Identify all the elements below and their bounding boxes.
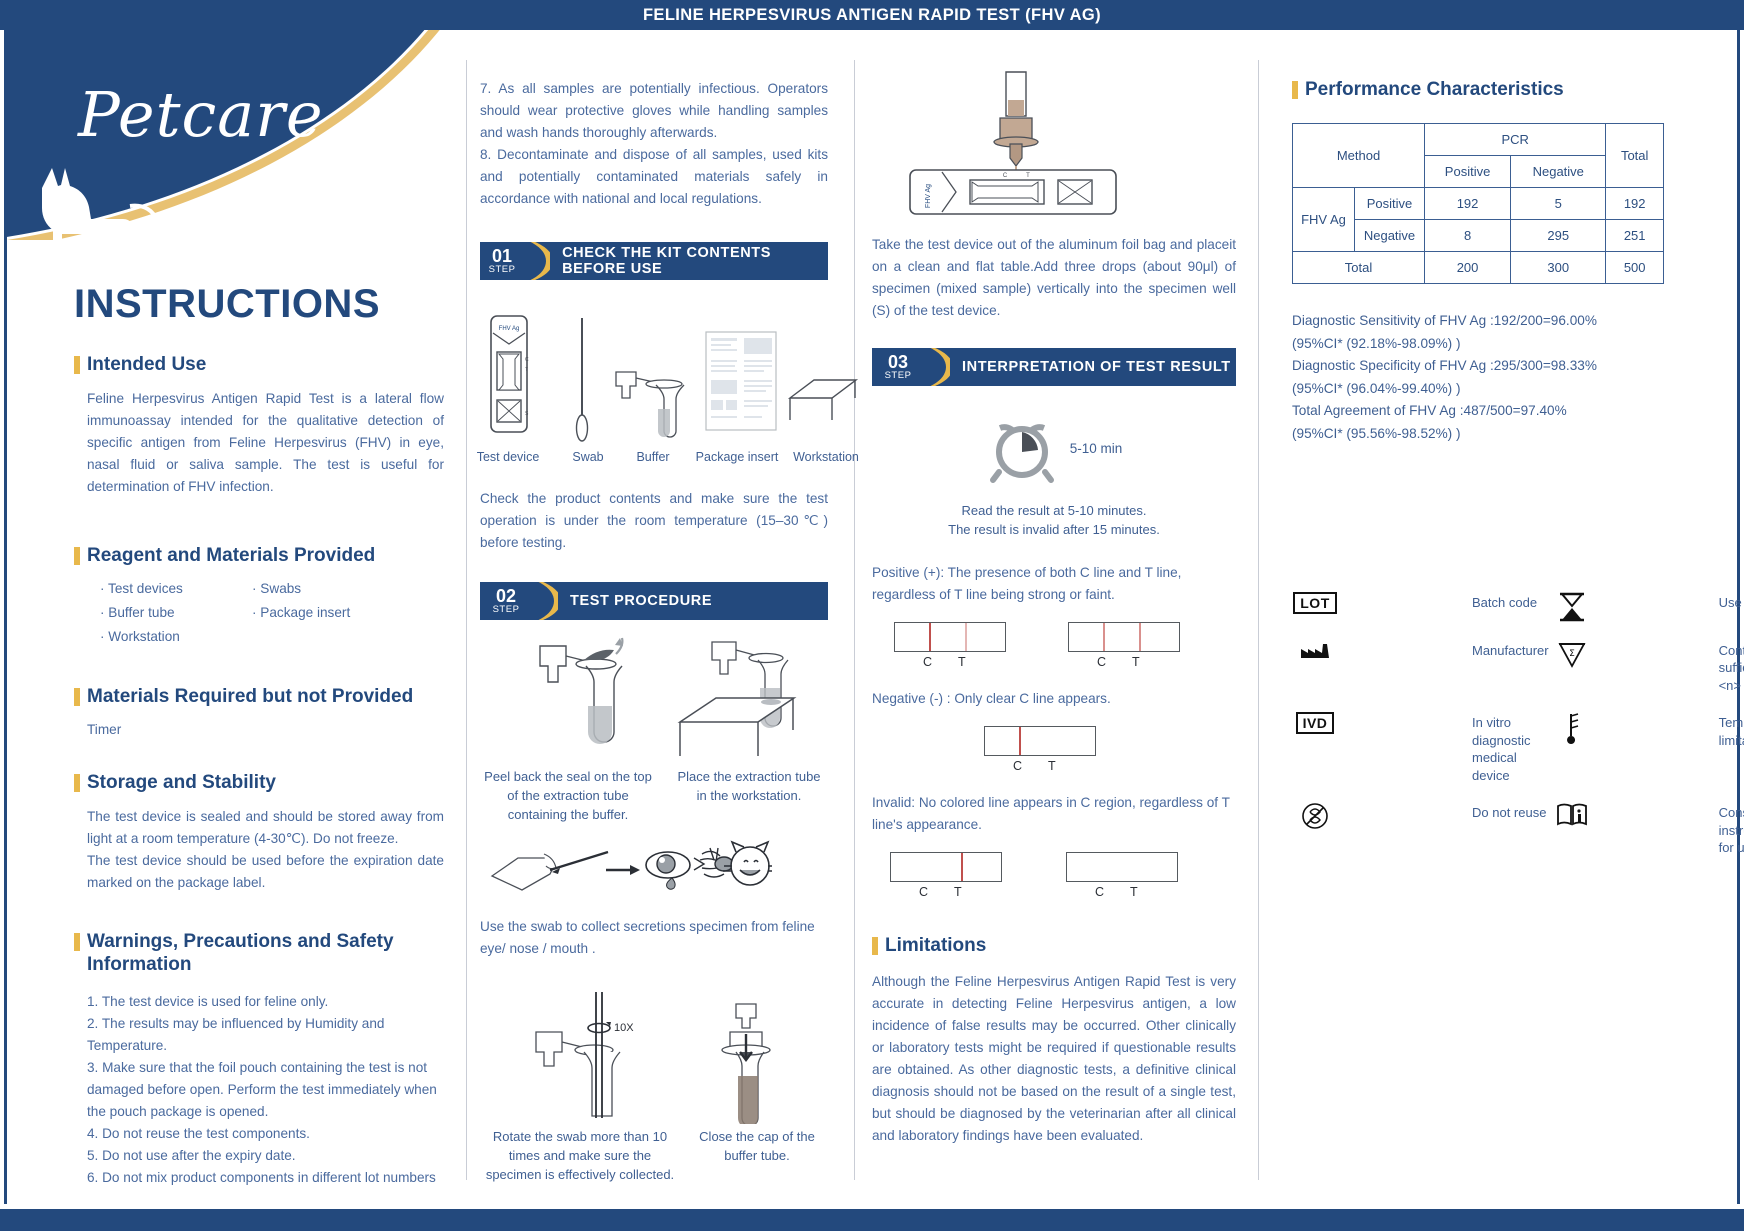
cell-pos-pcrneg: 5 [1511, 188, 1606, 220]
document-title: FELINE HERPESVIRUS ANTIGEN RAPID TEST (F… [0, 0, 1744, 30]
list-item: · Workstation [100, 625, 252, 649]
step-number-badge: 01 STEP [480, 242, 524, 280]
step-number: 01 [492, 247, 512, 265]
section-heading-warnings: Warnings, Precautions and Safety Informa… [74, 930, 404, 976]
table-row: FHV Ag Positive 192 5 192 [1293, 188, 1664, 220]
kit-label-test-device: Test device [464, 450, 552, 464]
t-label: T [954, 885, 962, 899]
cassette-window [1068, 622, 1180, 652]
step-word: STEP [885, 371, 912, 381]
alarm-clock-icon [986, 412, 1058, 484]
column-divider-2 [854, 60, 855, 1180]
test-device-icon: FHV Ag C T S [482, 314, 536, 434]
symbol-ivd: IVD [1292, 712, 1472, 734]
brand-logo-text: Petcare [78, 78, 324, 151]
cell-total-pcrneg: 300 [1511, 252, 1606, 284]
negative-result: CT [984, 726, 1096, 773]
symbol-legend: LOT Batch code Use by Manufacturer Σ C [1292, 592, 1682, 857]
cell-neg-total: 251 [1606, 220, 1664, 252]
manufacturer-factory-icon [1292, 640, 1338, 660]
column-divider-1 [466, 60, 467, 1180]
step-number-badge: 02 STEP [480, 582, 532, 620]
contains-sufficient-for-n-tests-icon: Σ [1549, 640, 1595, 670]
column-two: 7. As all samples are potentially infect… [480, 78, 828, 1188]
do-not-reuse-icon [1292, 802, 1338, 830]
section-heading-limitations: Limitations [872, 934, 1236, 957]
symbol-contains-sufficient: Σ [1549, 640, 1719, 670]
c-label: C [923, 655, 932, 669]
row-label-total: Total [1293, 252, 1425, 284]
list-item: 3. Make sure that the foil pouch contain… [87, 1057, 444, 1123]
limitations-body: Although the Feline Herpesvirus Antigen … [872, 971, 1236, 1147]
t-label: T [958, 655, 966, 669]
section-heading-intended-use: Intended Use [74, 353, 444, 376]
procedure-captions-row-1: Peel back the seal on the top of the ext… [480, 768, 828, 826]
kit-note: Check the product contents and make sure… [480, 488, 828, 554]
c-line [1103, 623, 1105, 651]
header-pcr: PCR [1425, 124, 1606, 156]
list-item: 6. Do not mix product components in diff… [87, 1167, 444, 1189]
t-label: T [1048, 759, 1056, 773]
stat-line: Total Agreement of FHV Ag :487/500=97.40… [1292, 400, 1682, 423]
procedure-illustration-row-1 [480, 632, 828, 766]
storage-body-2: The test device should be used before th… [74, 850, 444, 894]
svg-text:10X: 10X [614, 1022, 634, 1034]
t-label: T [1132, 655, 1140, 669]
step-label: INTERPRETATION OF TEST RESULT [950, 359, 1231, 375]
procedure-caption-4: Close the cap of the buffer tube. [690, 1128, 824, 1166]
kit-label-buffer: Buffer [620, 450, 686, 464]
symbol-label-lot: Batch code [1472, 592, 1549, 612]
svg-text:FHV Ag: FHV Ag [925, 184, 932, 208]
peel-seal-icon [508, 632, 638, 762]
warnings-cont-7: 7. As all samples are potentially infect… [480, 78, 828, 144]
kit-label-workstation: Workstation [784, 450, 868, 464]
t-line [965, 623, 967, 651]
column-four: Performance Characteristics Method PCR T… [1292, 78, 1682, 857]
add-specimen-illustration: FHV Ag C T [872, 70, 1236, 216]
invalid-description: Invalid: No colored line appears in C re… [872, 792, 1236, 836]
timer-row: 5-10 min [872, 412, 1236, 484]
invalid-result-no-lines: CT [1066, 852, 1178, 899]
t-line [1139, 623, 1141, 651]
t-line [961, 853, 963, 881]
header-pcr-positive: Positive [1425, 156, 1511, 188]
package-insert-icon [704, 330, 778, 432]
step-curve-accent [524, 242, 550, 280]
t-label: T [1130, 885, 1138, 899]
symbol-use-by [1549, 592, 1719, 622]
svg-text:Σ: Σ [1569, 649, 1575, 659]
list-item: 5. Do not use after the expiry date. [87, 1145, 444, 1167]
step-number-badge: 03 STEP [872, 348, 924, 386]
kit-contents-illustration: FHV Ag C T S [480, 314, 828, 444]
row-label-positive: Positive [1355, 188, 1425, 220]
symbol-label-contains-sufficient: Contains sufficient for <n> tests [1719, 640, 1744, 695]
symbol-label-temperature-limitation: Temperature limitation [1719, 712, 1744, 749]
kit-label-swab: Swab [552, 450, 624, 464]
c-line [1019, 727, 1021, 755]
performance-table: Method PCR Total Positive Negative FHV A… [1292, 123, 1664, 284]
row-label-negative: Negative [1355, 220, 1425, 252]
cassette-window [1066, 852, 1178, 882]
svg-text:T: T [525, 367, 528, 373]
symbol-do-not-reuse [1292, 802, 1472, 830]
column-left: INSTRUCTIONS Intended Use Feline Herpesv… [74, 282, 444, 1189]
procedure-illustration-row-2: 10X [480, 986, 828, 1124]
read-note-1: Read the result at 5-10 minutes. [872, 502, 1236, 521]
symbol-label-do-not-reuse: Do not reuse [1472, 802, 1549, 822]
swab-collection-icon [488, 840, 772, 902]
page-title: INSTRUCTIONS [74, 282, 444, 327]
lot-icon: LOT [1292, 592, 1338, 614]
symbol-label-ivd: In vitro diagnostic medical device [1472, 712, 1549, 784]
column-divider-3 [1258, 60, 1259, 1180]
symbol-manufacturer [1292, 640, 1472, 660]
positive-result-graphics: CT CT [872, 622, 1236, 674]
svg-text:T: T [1026, 173, 1030, 179]
step-word: STEP [493, 605, 520, 615]
step-label: CHECK THE KIT CONTENTS BEFORE USE [550, 245, 828, 277]
section-heading-reagents: Reagent and Materials Provided [74, 544, 444, 567]
temperature-limitation-icon [1549, 712, 1595, 744]
warnings-cont-8: 8. Decontaminate and dispose of all samp… [480, 144, 828, 210]
table-header-row: Method PCR Total [1293, 124, 1664, 156]
stat-line: (95%CI* (95.56%-98.52%) ) [1292, 423, 1682, 446]
table-total-row: Total 200 300 500 [1293, 252, 1664, 284]
stat-line: (95%CI* (92.18%-98.09%) ) [1292, 333, 1682, 356]
step-banner-03: 03 STEP INTERPRETATION OF TEST RESULT [872, 348, 1236, 386]
invalid-result-graphics: CT CT [872, 852, 1236, 904]
row-group-fhv-ag: FHV Ag [1293, 188, 1355, 252]
c-label: C [1013, 759, 1022, 773]
step-curve-accent [532, 582, 558, 620]
c-label: C [1095, 885, 1104, 899]
c-label: C [919, 885, 928, 899]
symbol-label-consult-instructions: Consult instructions for use [1719, 802, 1744, 857]
column-three: FHV Ag C T Take the test device out of t… [872, 70, 1236, 1147]
positive-faint-result: CT [1068, 622, 1180, 669]
svg-text:FHV Ag: FHV Ag [499, 326, 520, 332]
symbol-label-use-by: Use by [1719, 592, 1744, 612]
warnings-list: 1. The test device is used for feline on… [74, 991, 444, 1189]
read-note-2: The result is invalid after 15 minutes. [872, 521, 1236, 540]
header-pcr-negative: Negative [1511, 156, 1606, 188]
consult-instructions-icon [1549, 802, 1595, 828]
symbol-label-manufacturer: Manufacturer [1472, 640, 1549, 660]
cassette-window [984, 726, 1096, 756]
list-item: 4. Do not reuse the test components. [87, 1123, 444, 1145]
storage-body-1: The test device is sealed and should be … [74, 806, 444, 850]
cell-total-pcrpos: 200 [1425, 252, 1511, 284]
statistics-block: Diagnostic Sensitivity of FHV Ag :192/20… [1292, 310, 1682, 445]
cell-pos-pcrpos: 192 [1425, 188, 1511, 220]
ivd-icon: IVD [1292, 712, 1338, 734]
list-item: · Package insert [252, 601, 350, 625]
kit-label-package-insert: Package insert [682, 450, 792, 464]
swab-note: Use the swab to collect secretions speci… [480, 916, 828, 960]
section-heading-performance: Performance Characteristics [1292, 78, 1682, 101]
step-banner-01: 01 STEP CHECK THE KIT CONTENTS BEFORE US… [480, 242, 828, 280]
intended-use-body: Feline Herpesvirus Antigen Rapid Test is… [74, 388, 444, 498]
cassette-window [890, 852, 1002, 882]
invalid-result-t-only: CT [890, 852, 1002, 899]
c-line [929, 623, 931, 651]
header-total: Total [1606, 124, 1664, 188]
close-cap-icon [700, 1002, 796, 1124]
stat-line: Diagnostic Sensitivity of FHV Ag :192/20… [1292, 310, 1682, 333]
c-label: C [1097, 655, 1106, 669]
instruction-leaflet-page: FELINE HERPESVIRUS ANTIGEN RAPID TEST (F… [0, 0, 1744, 1231]
test-device-horizontal-icon: FHV Ag C T [908, 166, 1118, 218]
cassette-window [894, 622, 1006, 652]
section-heading-storage: Storage and Stability [74, 771, 444, 794]
symbol-lot: LOT [1292, 592, 1472, 614]
place-tube-workstation-icon [676, 636, 816, 762]
procedure-caption-2: Place the extraction tube in the worksta… [674, 768, 824, 806]
workstation-icon [786, 376, 860, 428]
svg-text:C: C [525, 357, 529, 363]
step-number: 02 [496, 587, 516, 605]
list-item: · Buffer tube [100, 601, 252, 625]
cat-silhouette-icon [26, 160, 166, 240]
stat-line: (95%CI* (96.04%-99.40%) ) [1292, 378, 1682, 401]
buffer-tube-icon [612, 369, 692, 441]
svg-text:C: C [1003, 173, 1008, 179]
symbol-consult-instructions [1549, 802, 1719, 828]
list-item: 1. The test device is used for feline on… [87, 991, 444, 1013]
top-banner: FELINE HERPESVIRUS ANTIGEN RAPID TEST (F… [0, 0, 1744, 30]
positive-strong-result: CT [894, 622, 1006, 669]
cell-total-total: 500 [1606, 252, 1664, 284]
section-heading-required-not-provided: Materials Required but not Provided [74, 685, 444, 708]
positive-description: Positive (+): The presence of both C lin… [872, 562, 1236, 606]
hourglass-use-by-icon [1549, 592, 1595, 622]
reagents-list: · Test devices· Swabs · Buffer tube· Pac… [74, 577, 444, 648]
symbol-temperature-limitation [1549, 712, 1719, 744]
brand-swoosh: Petcare [4, 30, 484, 240]
step-number: 03 [888, 353, 908, 371]
required-not-provided-body: Timer [74, 719, 444, 741]
list-item: · Swabs [252, 577, 301, 601]
step-word: STEP [489, 265, 516, 275]
list-item: · Test devices [100, 577, 252, 601]
swab-icon [574, 316, 590, 442]
step-curve-accent [924, 348, 950, 386]
negative-result-graphics: CT [872, 726, 1236, 778]
list-item: 2. The results may be influenced by Humi… [87, 1013, 444, 1057]
step-label: TEST PROCEDURE [558, 593, 712, 609]
cell-pos-total: 192 [1606, 188, 1664, 220]
procedure-caption-1: Peel back the seal on the top of the ext… [480, 768, 656, 825]
rotate-swab-icon: 10X [516, 986, 656, 1124]
bottom-banner [0, 1209, 1744, 1231]
svg-text:S: S [525, 411, 529, 417]
step-banner-02: 02 STEP TEST PROCEDURE [480, 582, 828, 620]
procedure-captions-row-2: Rotate the swab more than 10 times and m… [480, 1128, 828, 1188]
kit-item-labels: Test device Swab Buffer Package insert W… [480, 450, 828, 466]
header-method: Method [1293, 124, 1425, 188]
add-specimen-note: Take the test device out of the aluminum… [872, 234, 1236, 322]
cell-neg-pcrpos: 8 [1425, 220, 1511, 252]
timer-label: 5-10 min [1070, 441, 1123, 456]
negative-description: Negative (-) : Only clear C line appears… [872, 688, 1236, 710]
procedure-caption-3: Rotate the swab more than 10 times and m… [480, 1128, 680, 1185]
cell-neg-pcrneg: 295 [1511, 220, 1606, 252]
stat-line: Diagnostic Specificity of FHV Ag :295/30… [1292, 355, 1682, 378]
